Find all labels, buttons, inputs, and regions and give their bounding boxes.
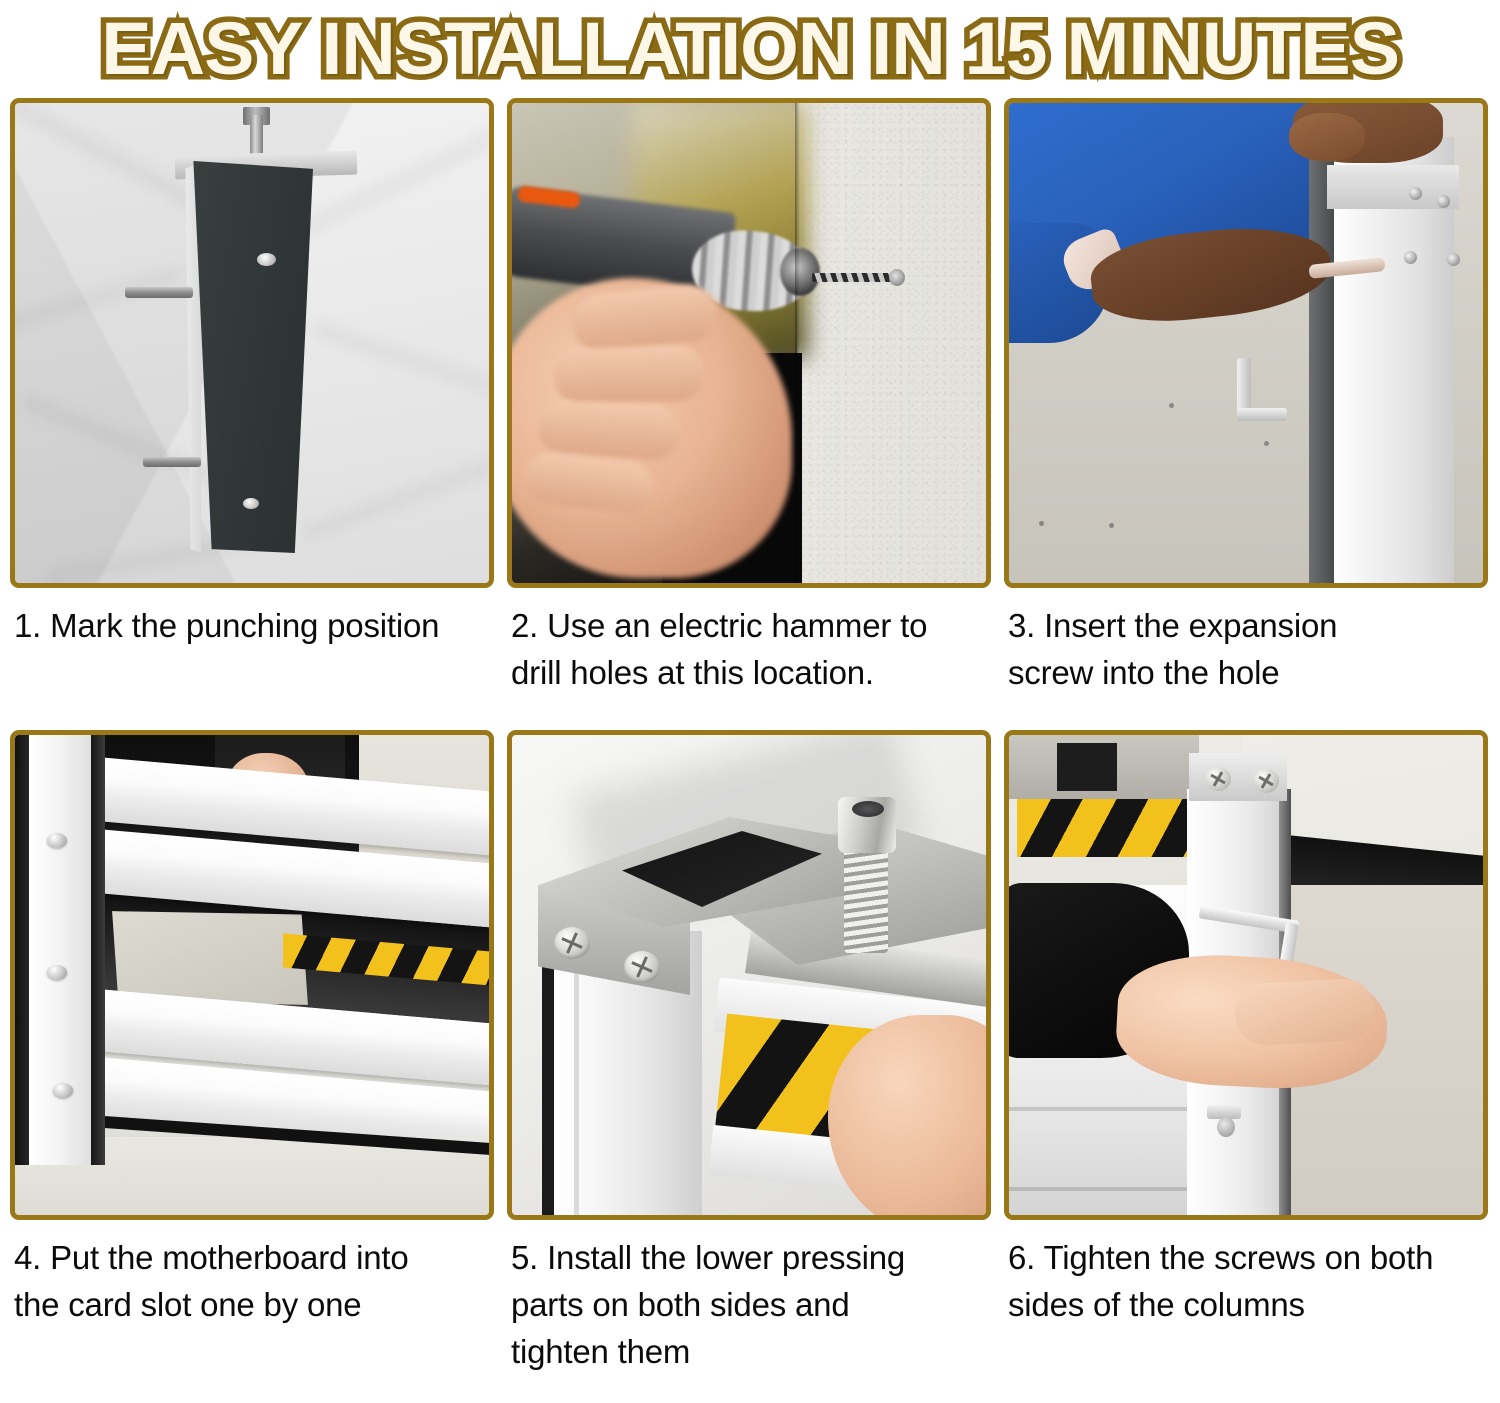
card-slot-channel [91, 735, 105, 1165]
drill-bit [812, 273, 894, 282]
worker-upper-hand [1289, 113, 1365, 161]
bracket-screw [1447, 253, 1460, 266]
phillips-screw [624, 951, 660, 983]
step-5-caption: 5. Install the lower pressing parts on b… [507, 1234, 991, 1346]
column-bolt [53, 1083, 73, 1098]
bracket-screw [1437, 195, 1450, 208]
column-bolt [47, 965, 67, 980]
step-1-photo-frame [10, 98, 494, 588]
step-2-photo-frame [507, 98, 991, 588]
floor-speck [1039, 521, 1044, 526]
step-card-6: 6. Tighten the screws on both sides of t… [1004, 730, 1488, 1346]
step-4-insert-boards-photo [15, 735, 489, 1215]
step-card-5: 5. Install the lower pressing parts on b… [507, 730, 991, 1346]
threaded-bolt-shaft [844, 841, 888, 953]
punch-hole-upper [257, 253, 276, 266]
floor-speck [1169, 403, 1174, 408]
hazard-stripe [1017, 799, 1187, 857]
white-card-slot-column [29, 735, 95, 1165]
step-1-caption: 1. Mark the punching position [10, 602, 494, 714]
phillips-screw [554, 927, 590, 959]
finger [537, 399, 682, 460]
background-panel [112, 911, 308, 1005]
step-5-install-pressing-parts-photo [512, 735, 986, 1215]
bracket-screw [1409, 187, 1422, 200]
column-bolt [47, 833, 67, 848]
step-card-3: 3. Insert the expansion screw into the h… [1004, 98, 1488, 714]
column-screw [1253, 769, 1279, 793]
wall-corner-edge [795, 103, 800, 583]
protruding-stud-upper [125, 287, 193, 298]
board-seam [1009, 1187, 1199, 1191]
step-4-caption: 4. Put the motherboard into the card slo… [10, 1234, 494, 1346]
bolt-socket-hole [852, 801, 884, 817]
floor-speck [1264, 441, 1269, 446]
board-seam [1009, 1107, 1199, 1111]
step-3-caption: 3. Insert the expansion screw into the h… [1004, 602, 1488, 714]
dark-gap [1057, 743, 1117, 791]
step-2-drill-holes-photo [512, 103, 986, 583]
step-card-2: 2. Use an electric hammer to drill holes… [507, 98, 991, 714]
column-screw [1205, 767, 1231, 791]
lower-fastener-head [1217, 1117, 1235, 1137]
finger [553, 344, 705, 405]
step-1-mark-punching-position-photo [15, 103, 489, 583]
drill-bit-tip [889, 269, 905, 286]
drill-chuck-nose [780, 248, 820, 296]
floor-speck [1109, 523, 1114, 528]
installer-fingers [1233, 977, 1376, 1046]
steps-row-top: 1. Mark the punching position [10, 98, 1490, 714]
step-5-photo-frame [507, 730, 991, 1220]
step-6-photo-frame [1004, 730, 1488, 1220]
punch-hole-lower [243, 498, 259, 509]
steps-row-bottom: 4. Put the motherboard into the card slo… [10, 730, 1490, 1346]
step-2-caption: 2. Use an electric hammer to drill holes… [507, 602, 991, 714]
step-3-insert-expansion-screw-photo [1009, 103, 1483, 583]
column-dark-edge [542, 935, 554, 1215]
bracket-screw [1404, 251, 1417, 264]
step-card-1: 1. Mark the punching position [10, 98, 494, 714]
step-4-photo-frame [10, 730, 494, 1220]
allen-key-short-arm [1237, 408, 1287, 421]
installation-steps-grid: 1. Mark the punching position [0, 98, 1500, 1346]
page-title: EASY INSTALLATION IN 15 MINUTES [91, 11, 1409, 87]
step-card-4: 4. Put the motherboard into the card slo… [10, 730, 494, 1346]
step-6-tighten-screws-photo [1009, 735, 1483, 1215]
banner-header: EASY INSTALLATION IN 15 MINUTES [0, 0, 1500, 98]
protruding-stud-lower [143, 457, 201, 467]
step-6-caption: 6. Tighten the screws on both sides of t… [1004, 1234, 1488, 1346]
step-3-photo-frame [1004, 98, 1488, 588]
